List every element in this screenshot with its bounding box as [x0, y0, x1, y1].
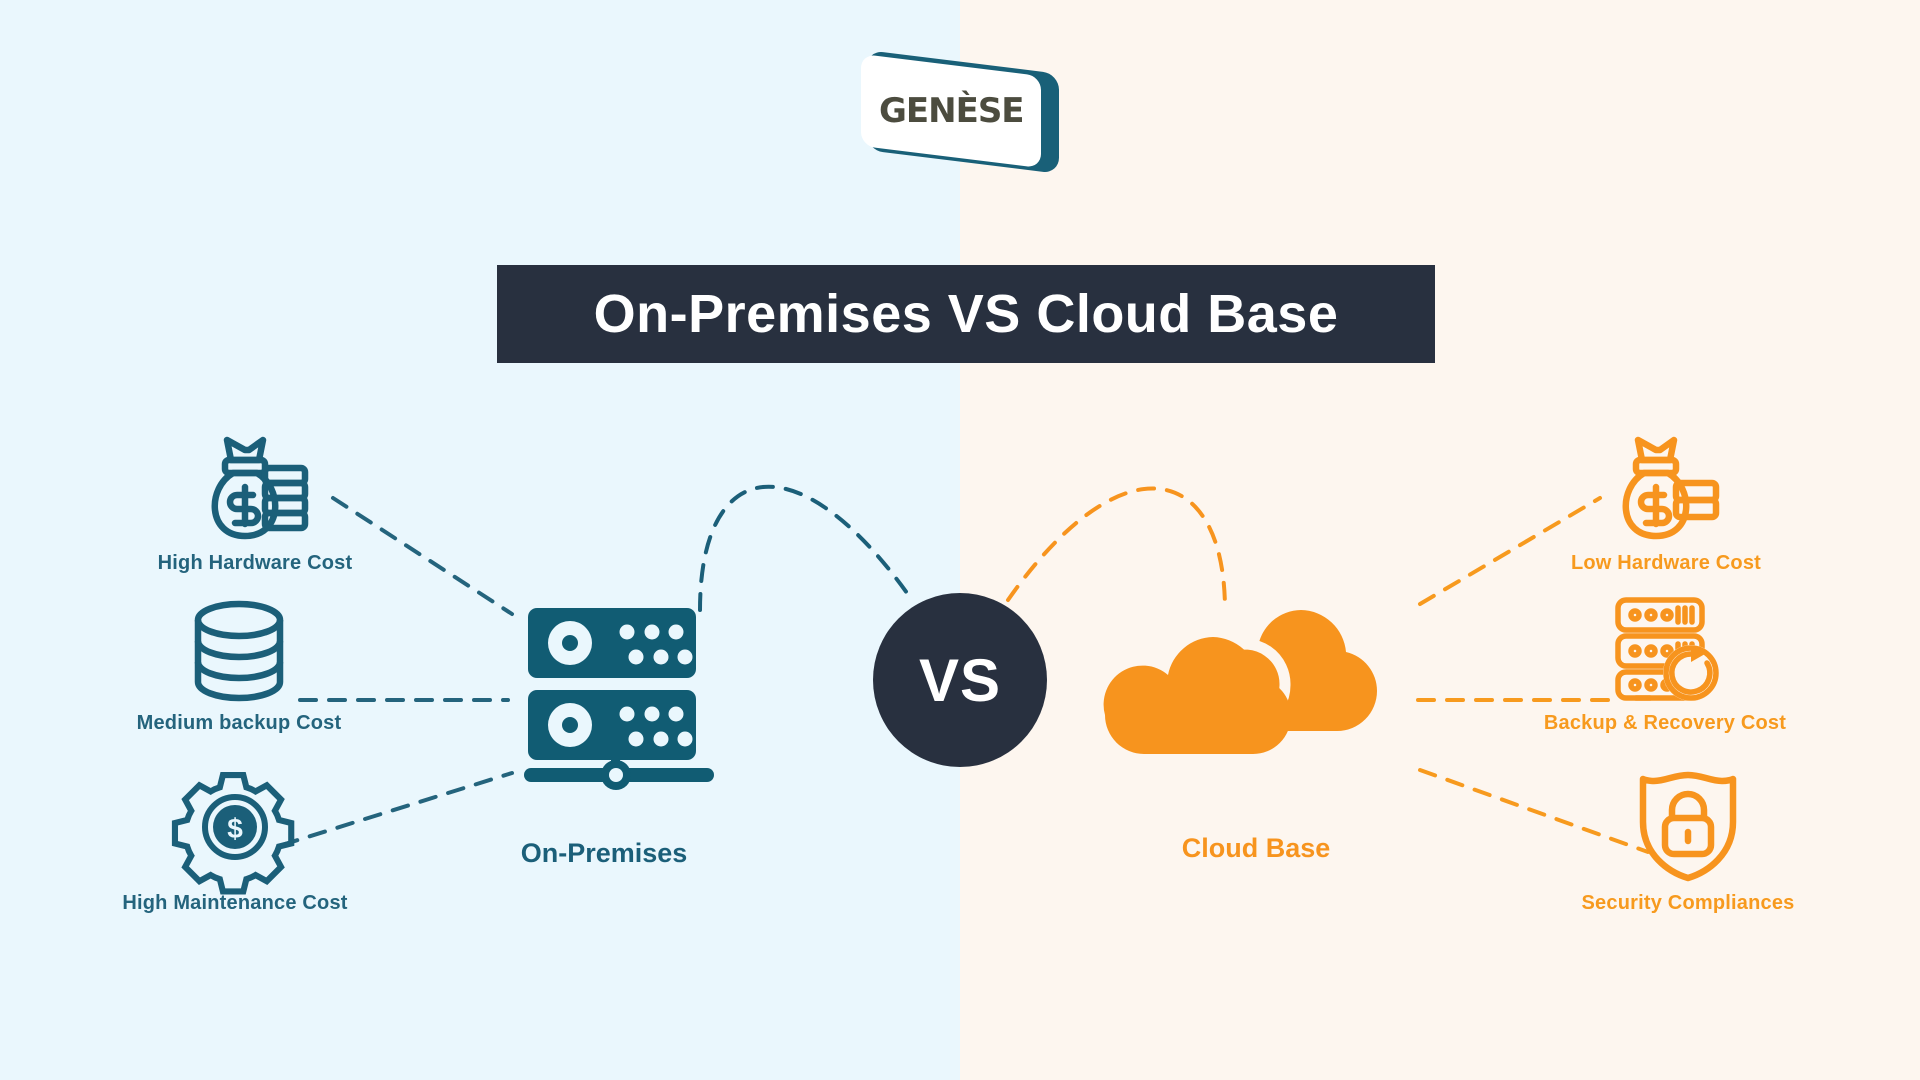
feature-label: High Hardware Cost — [75, 552, 435, 575]
feature-high-hardware-cost: High Hardware Cost — [75, 420, 435, 575]
server-restore-icon — [1485, 580, 1845, 702]
on-premises-label: On-Premises — [404, 838, 804, 869]
feature-security-compliances: Security Compliances — [1508, 760, 1868, 915]
database-cylinder-icon — [59, 580, 419, 702]
feature-backup-recovery-cost: Backup & Recovery Cost — [1485, 580, 1845, 735]
versus-badge: VS — [873, 593, 1047, 767]
shield-lock-icon — [1508, 760, 1868, 882]
versus-label: VS — [919, 646, 1001, 715]
gear-dollar-icon: $ — [55, 760, 415, 882]
feature-medium-backup-cost: Medium backup Cost — [59, 580, 419, 735]
feature-label: Medium backup Cost — [59, 712, 419, 735]
feature-label: Security Compliances — [1508, 892, 1868, 915]
money-bag-coins-icon — [75, 420, 435, 542]
feature-label: Low Hardware Cost — [1486, 552, 1846, 575]
cloud-base-label: Cloud Base — [1036, 833, 1476, 864]
arc-right-curve — [1008, 488, 1225, 610]
money-bag-coins-icon — [1486, 420, 1846, 542]
infographic-canvas: GENÈSE On-Premises VS Cloud Base VS — [0, 0, 1920, 1080]
cloud-icon — [1108, 595, 1408, 775]
arc-left-curve — [700, 487, 912, 610]
server-rack-icon — [524, 608, 714, 783]
feature-low-hardware-cost: Low Hardware Cost — [1486, 420, 1846, 575]
feature-high-maintenance-cost: $ High Maintenance Cost — [55, 760, 415, 915]
svg-text:$: $ — [227, 813, 243, 844]
feature-label: Backup & Recovery Cost — [1485, 712, 1845, 735]
feature-label: High Maintenance Cost — [55, 892, 415, 915]
